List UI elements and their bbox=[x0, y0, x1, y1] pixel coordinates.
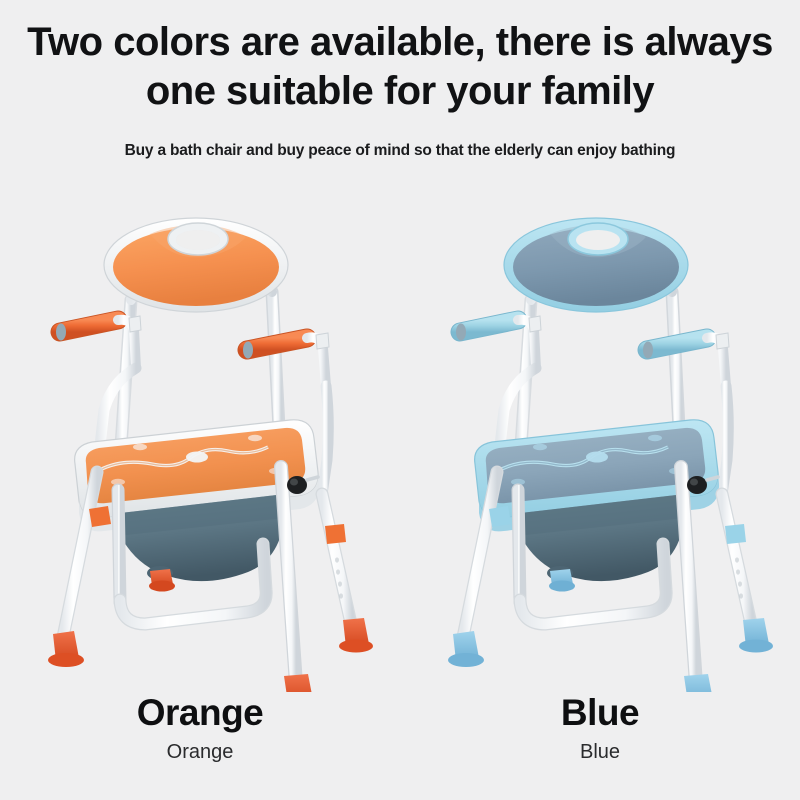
armrest-support-right-blue bbox=[722, 386, 728, 494]
product-image-blue[interactable] bbox=[400, 172, 800, 692]
feet-blue bbox=[448, 618, 773, 692]
page-title: Two colors are available, there is alway… bbox=[0, 18, 800, 116]
caption-blue: Blue Blue bbox=[400, 694, 800, 763]
orange-chair-illustration bbox=[0, 172, 400, 692]
blue-chair-illustration bbox=[400, 172, 800, 692]
product-banner: Two colors are available, there is alway… bbox=[0, 0, 800, 800]
page-subtitle: Buy a bath chair and buy peace of mind s… bbox=[0, 142, 800, 160]
product-image-orange[interactable] bbox=[0, 172, 400, 692]
color-subname-orange: Orange bbox=[0, 742, 400, 763]
product-gallery bbox=[0, 172, 800, 692]
backrest-pad-blue bbox=[504, 218, 688, 312]
armrest-right-blue bbox=[643, 333, 729, 386]
armrest-right-orange bbox=[243, 333, 329, 386]
caption-orange: Orange Orange bbox=[0, 694, 400, 763]
armrest-support-right-orange bbox=[322, 386, 328, 494]
color-name-blue: Blue bbox=[400, 694, 800, 733]
color-name-orange: Orange bbox=[0, 694, 400, 733]
color-subname-blue: Blue bbox=[400, 742, 800, 763]
feet-orange bbox=[48, 618, 373, 692]
